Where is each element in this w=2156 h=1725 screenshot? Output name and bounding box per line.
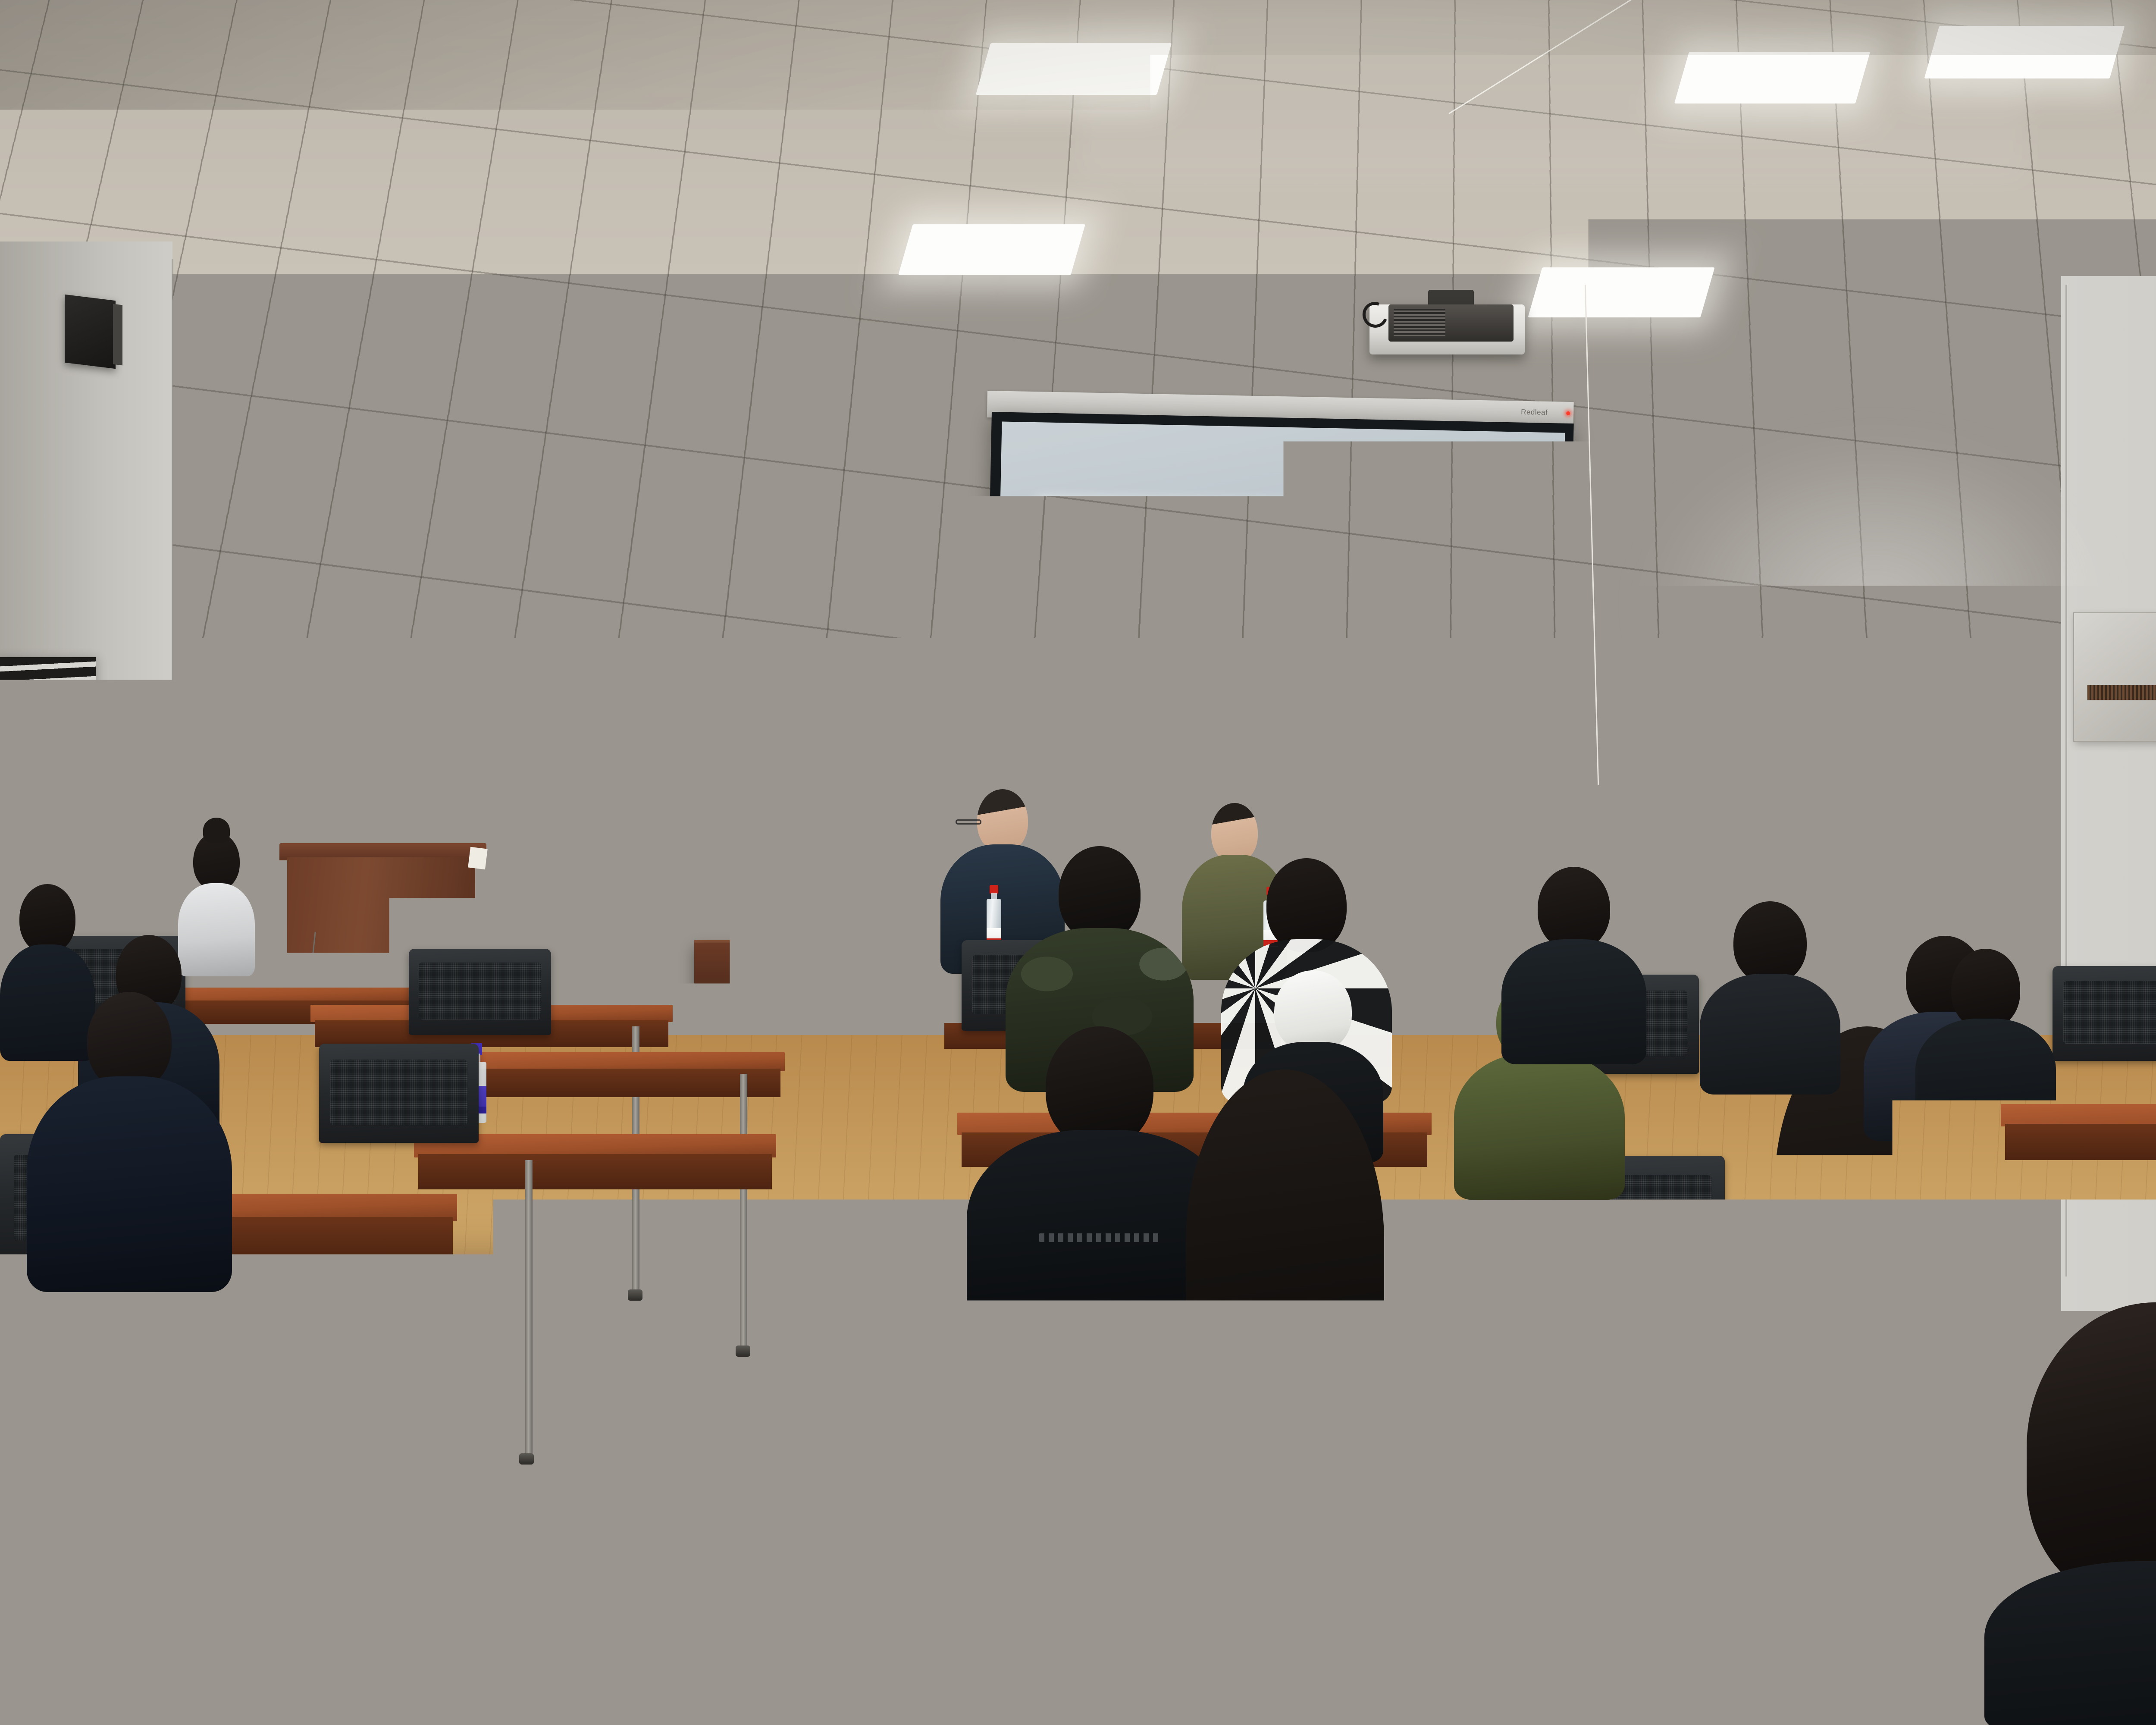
slide-photo-page: [1072, 655, 1174, 729]
microphone-icon: [325, 717, 336, 734]
svg-text:数统: 数统: [1081, 551, 1093, 558]
desk-caster: [628, 1289, 642, 1301]
person-head: [1951, 949, 2020, 1029]
person-hands: [1777, 1652, 1940, 1725]
person-head: [1018, 1475, 1259, 1725]
audience-person: [1699, 901, 1841, 1087]
audience-person: [26, 992, 233, 1285]
person-head: [1733, 901, 1807, 983]
person-head: [1059, 846, 1141, 941]
podium-monitor[interactable]: [356, 799, 453, 850]
presentation-slide: 数统 数学与统计学院 School of Mathematics and Sta…: [1031, 497, 1523, 750]
projector-mount-pole: [1445, 107, 1457, 293]
podium-paper: [468, 847, 488, 870]
audience-person: [129, 1354, 371, 1725]
bottle-cap: [1663, 888, 1672, 896]
slide-photo-pen: [1053, 687, 1066, 737]
university-logo-icon: 数统: [1056, 507, 1118, 588]
projector-vent: [1394, 309, 1445, 337]
ceiling-light-panel: [898, 224, 1085, 275]
bottle-cap: [990, 885, 998, 894]
person-head: [1266, 858, 1347, 952]
audience-chair[interactable]: [2053, 966, 2156, 1061]
person-head: [1274, 970, 1352, 1052]
slide-header: 数统 数学与统计学院 School of Mathematics and Sta…: [1034, 497, 1523, 619]
person-torso: [27, 1076, 232, 1292]
person-head: [203, 1354, 298, 1462]
eyeglasses-icon: [956, 819, 981, 825]
student-desk-front: [461, 1069, 780, 1097]
chair-mesh-back: [330, 1060, 467, 1125]
audience-person: [1501, 867, 1647, 1061]
water-bottle[interactable]: [987, 885, 1001, 943]
bottle-cap: [1796, 888, 1805, 897]
slide-date: 2017年10月13日: [1322, 693, 1442, 717]
projection-screen[interactable]: 数统 数学与统计学院 School of Mathematics and Sta…: [984, 412, 1573, 803]
desk-leg: [525, 1160, 533, 1458]
person-head: [87, 992, 172, 1090]
person-hair-bun: [203, 818, 230, 843]
desk-caster: [519, 1453, 534, 1465]
panel-breaker-slot: [2087, 685, 2156, 700]
chair-mesh-back: [419, 963, 541, 1019]
audience-chair[interactable]: [409, 949, 551, 1035]
wall-speaker-left: [65, 295, 116, 369]
ceiling-glow: [1078, 0, 2027, 181]
slide-photo-notebook: [1031, 643, 1194, 743]
student-desk-front: [418, 1154, 772, 1189]
wristwatch-icon: [1772, 1207, 1796, 1222]
person-torso: [1803, 1311, 2026, 1406]
ac-knob[interactable]: [0, 845, 9, 856]
ac-air-vent-grille: [0, 657, 96, 787]
desk-leg: [740, 1074, 747, 1350]
ceiling-light-panel: [182, 194, 379, 250]
bottle-body: [987, 899, 1001, 943]
person-head: [1211, 803, 1258, 862]
classroom-scene: Redleaf 数统 数学与统计学院 School of Mathematics…: [0, 0, 2156, 1725]
person-head: [2027, 1302, 2156, 1604]
bottle-body: [1660, 901, 1675, 945]
projection-surface: 数统 数学与统计学院 School of Mathematics and Sta…: [995, 421, 1565, 790]
ceiling-light-panel: [1528, 267, 1714, 317]
screen-power-led: [1566, 411, 1570, 415]
person-long-hair: [1824, 1069, 2005, 1345]
ac-brand-label: CHUNLAN: [25, 831, 60, 838]
screen-brand-label: Redleaf: [1521, 408, 1548, 417]
person-torso: [1501, 939, 1646, 1064]
slide-school-name: 数学与统计学院 School of Mathematics and Statis…: [1152, 524, 1494, 563]
audience-person-foreground: [983, 1475, 1294, 1725]
person-head: [19, 884, 75, 953]
audience-person: [1802, 1069, 2027, 1397]
water-bottle[interactable]: [815, 888, 830, 945]
person-head: [1538, 867, 1610, 950]
water-bottle[interactable]: [1660, 888, 1675, 945]
ac-status-indicator: [41, 857, 45, 861]
desk-caster: [736, 1345, 750, 1357]
wall-speaker-left-side: [113, 304, 122, 366]
person-torso: [130, 1447, 370, 1725]
slide-school-name-en: School of Mathematics and Statistics: [1152, 543, 1493, 564]
audience-chair[interactable]: [319, 1044, 479, 1143]
chair-mesh-back: [2063, 981, 2156, 1044]
electrical-panel[interactable]: [2073, 612, 2156, 742]
person-head: [977, 789, 1028, 852]
person-torso: [1984, 1561, 2156, 1725]
slide-school-name-cn: 数学与统计学院: [1153, 524, 1494, 546]
